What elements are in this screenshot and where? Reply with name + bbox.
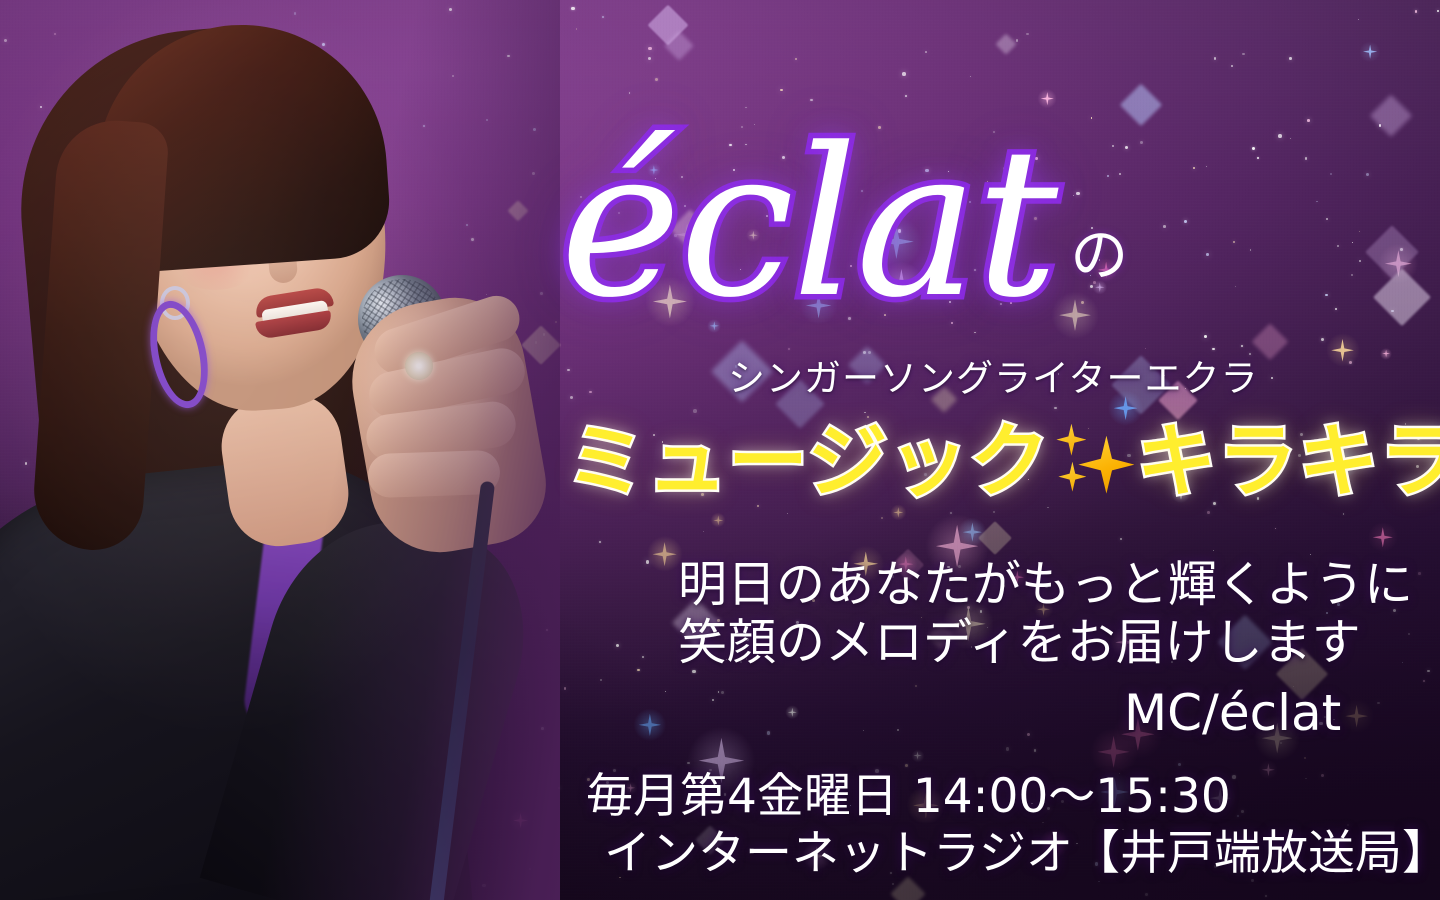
subtitle-kana: シンガーソングライターエクラ — [728, 348, 1259, 402]
sparkles-icon-large — [1078, 436, 1134, 494]
eclat-logo: éclat の — [560, 112, 1260, 322]
tagline-line-2: 笑顔のメロディをお届けします — [678, 614, 1438, 672]
program-title-part1: ミュージック — [566, 420, 1050, 503]
radio-program-banner: éclat の シンガーソングライターエクラ ミュージック キラキラ 明日のあな… — [0, 0, 1440, 900]
banner-text-content: éclat の シンガーソングライターエクラ ミュージック キラキラ 明日のあな… — [0, 0, 1440, 900]
eclat-wordmark: éclat — [560, 127, 1056, 322]
tagline: 明日のあなたがもっと輝くように 笑顔のメロディをお届けします — [678, 556, 1438, 672]
schedule-info: 毎月第4金曜日 14:00〜15:30 インターネットラジオ【井戸端放送局】 — [586, 768, 1426, 883]
program-title: ミュージック キラキラ — [566, 420, 1426, 503]
sparkles-icon-small-top — [1056, 424, 1086, 456]
schedule-line-1: 毎月第4金曜日 14:00〜15:30 — [586, 768, 1426, 825]
program-title-part2: キラキラ — [1136, 420, 1440, 503]
host-credit: MC/éclat — [1124, 684, 1341, 742]
schedule-line-2: インターネットラジオ【井戸端放送局】 — [586, 825, 1426, 882]
logo-particle-no: の — [1070, 208, 1128, 292]
sparkles-icon-small-bottom — [1058, 462, 1086, 492]
sparkles-icon — [1050, 422, 1136, 502]
tagline-line-1: 明日のあなたがもっと輝くように — [678, 556, 1438, 614]
